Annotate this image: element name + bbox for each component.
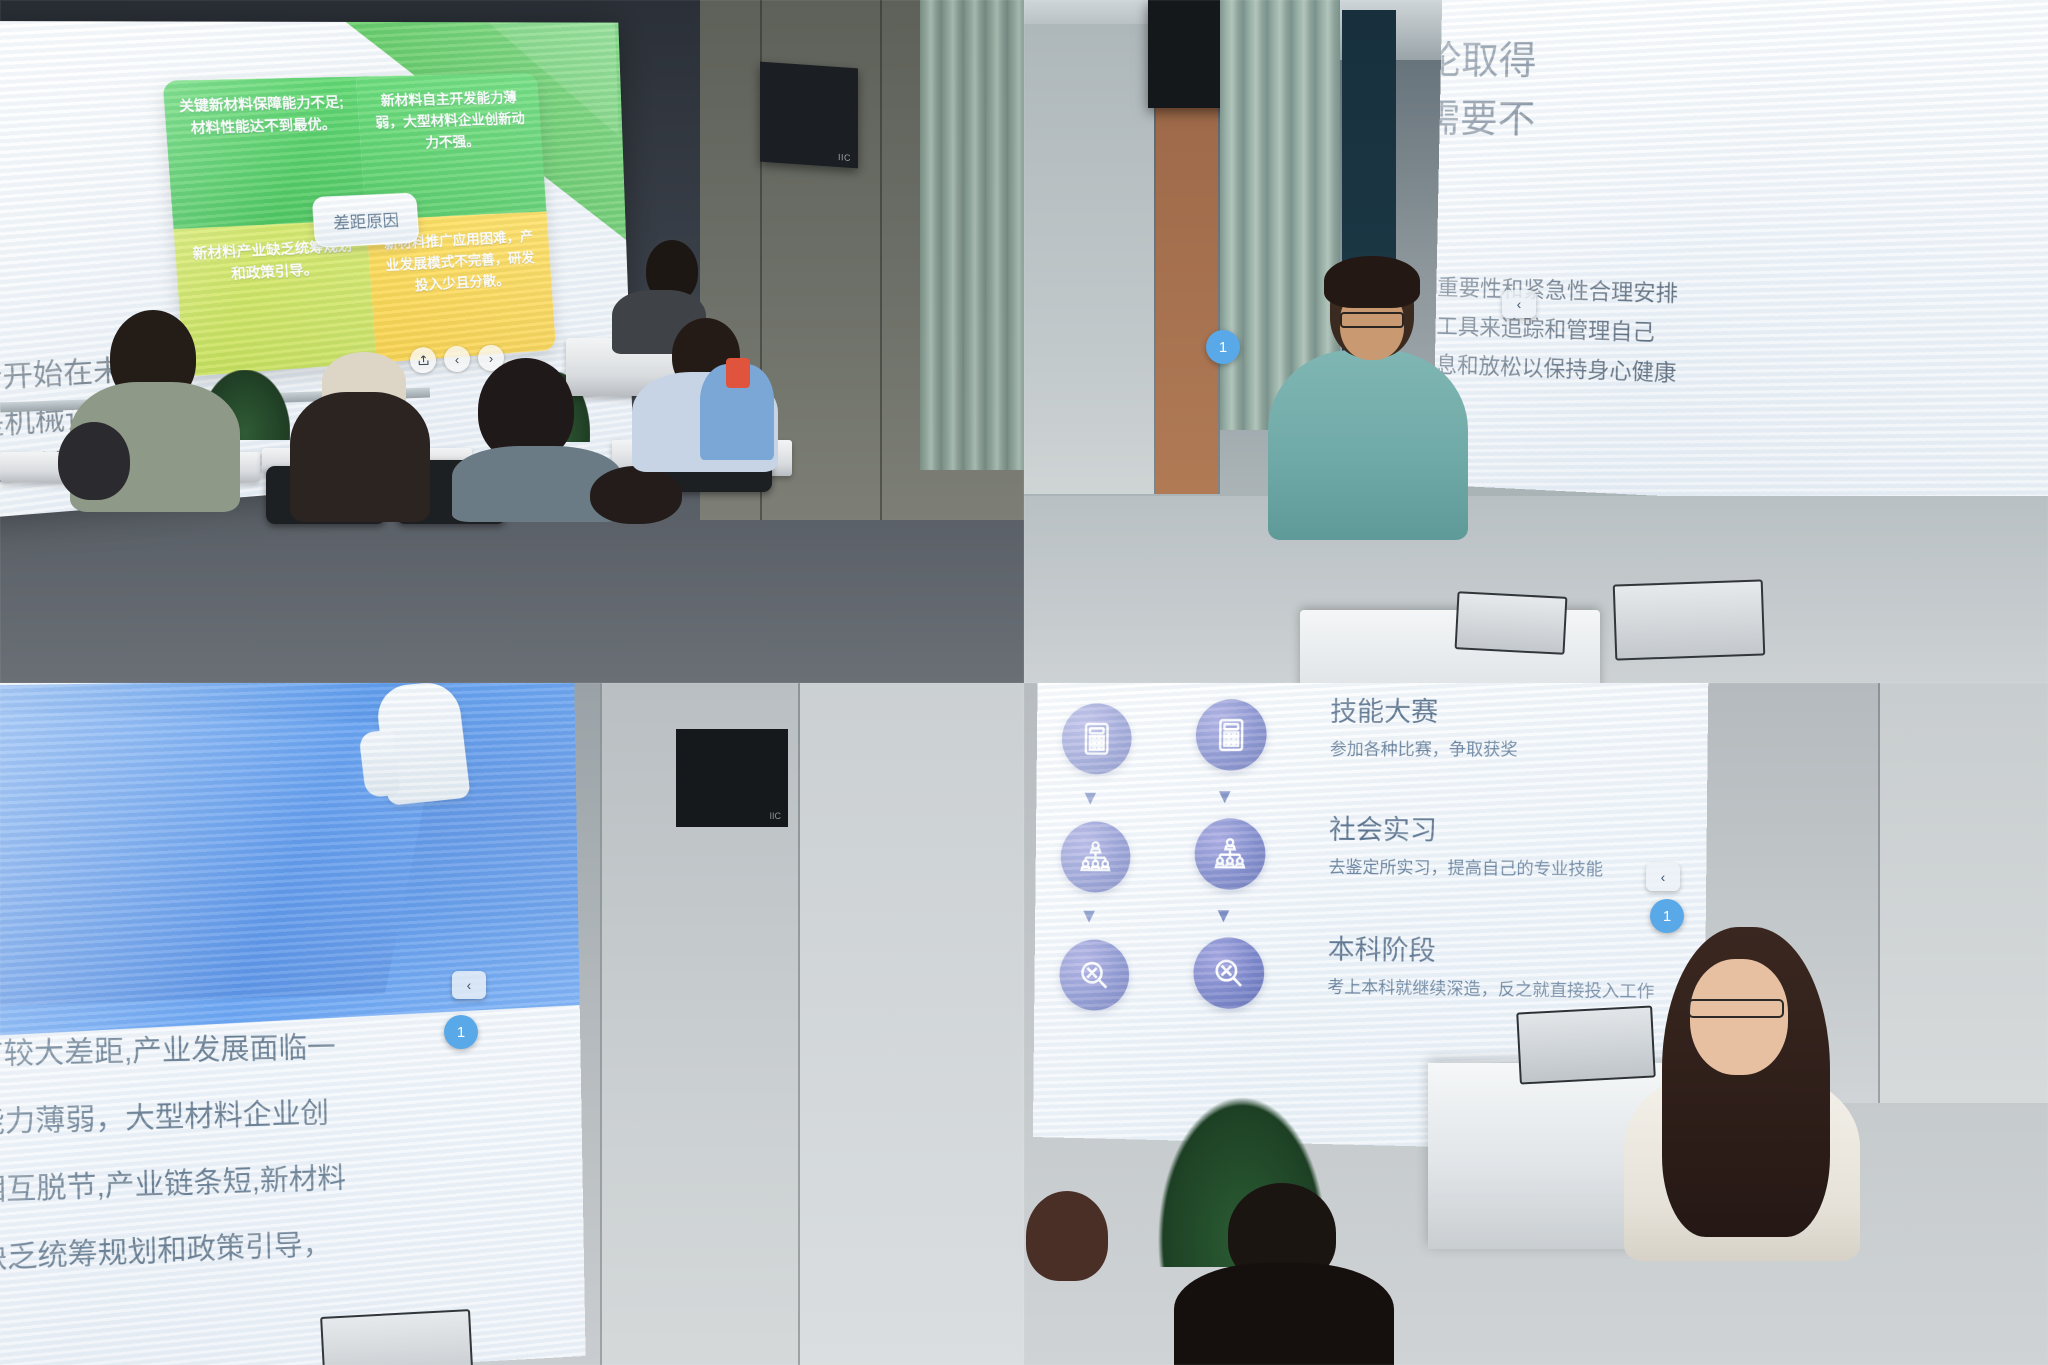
audience-head <box>590 466 682 524</box>
step-heading-1: 技能大赛 <box>1330 697 1518 728</box>
wall-panel <box>1880 683 2048 1103</box>
page-number-badge[interactable]: 1 <box>444 1015 478 1049</box>
presenter-laptop <box>1516 1005 1656 1084</box>
step-heading-2: 社会实习 <box>1329 815 1604 848</box>
chevron-down-icon: ▾ <box>1083 904 1095 928</box>
chevron-down-icon: ▾ <box>1219 785 1231 809</box>
presenter-glasses <box>1688 999 1784 1018</box>
prev-slide-button[interactable]: ‹ <box>1646 863 1680 891</box>
audience-body <box>290 392 430 522</box>
panel-top-right: IIC 论取得 需要不 。 的重要性和紧急性合理安排 等工具来追踪和管理自己 休… <box>1024 0 2048 683</box>
presenter-tablet <box>1455 591 1568 655</box>
prev-slide-button[interactable]: ‹ <box>1502 290 1536 318</box>
prev-slide-button[interactable]: ‹ <box>452 971 486 999</box>
projection-screen-2: 论取得 需要不 。 的重要性和紧急性合理安排 等工具来追踪和管理自己 休息和放松… <box>1432 0 2048 516</box>
wall-panel-left <box>1024 24 1154 494</box>
speaker-brand-label: IIC <box>769 811 781 821</box>
page-number-badge[interactable]: 1 <box>1206 330 1240 364</box>
photo-collage: IIC 设计 主? 生? ? 的分析开始在未 尤其是机械设 突出越来越重要 关键… <box>0 0 2048 1365</box>
speaker-brand-label: IIC <box>838 152 851 163</box>
share-icon[interactable] <box>410 347 437 374</box>
thumbs-up-icon <box>374 683 470 806</box>
panel-bottom-right: ▾ ▾ 技能大赛 参加各种比赛，争取获奖 <box>1024 683 2048 1365</box>
slide-nav-controls-1[interactable]: ‹ › <box>410 344 505 373</box>
presenter-shirt <box>1268 350 1468 540</box>
step-sub-2: 去鉴定所实习，提高自己的专业技能 <box>1328 853 1603 880</box>
step-sub-1: 参加各种比赛，争取获奖 <box>1330 735 1518 760</box>
matrix-center-label: 差距原因 <box>312 193 420 248</box>
step-sub-3: 考上本科就继续深造，反之就直接投入工作 <box>1327 973 1654 1003</box>
slide-heading-line-1: 论取得 <box>1432 29 1537 86</box>
projection-screen-3: 国家有较大差距,产业发展面临一 开发能力薄弱，大型材料企业创 研用相互脱节,产业… <box>0 683 586 1365</box>
presenter-glasses <box>1340 312 1404 328</box>
step-text-3: 本科阶段 考上本科就继续深造，反之就直接投入工作 <box>1327 935 1655 1003</box>
audience-head <box>1026 1191 1108 1281</box>
audience-body <box>1174 1263 1394 1365</box>
page-number-badge[interactable]: 1 <box>1650 899 1684 933</box>
wall-seam <box>798 683 800 1365</box>
ceiling-speaker: IIC <box>760 62 858 169</box>
wall-seam <box>1878 683 1880 1103</box>
presenter-laptop <box>1613 579 1766 660</box>
window-curtain <box>920 0 1024 470</box>
ceiling-speaker: IIC <box>676 729 788 827</box>
wall-seam <box>880 0 882 520</box>
slide-body-line-1: 的重要性和紧急性合理安排 <box>1432 268 1678 308</box>
audience-head <box>58 422 130 500</box>
wall-panel <box>800 683 1024 1365</box>
step-heading-3: 本科阶段 <box>1328 935 1655 970</box>
step-text-2: 社会实习 去鉴定所实习，提高自己的专业技能 <box>1328 815 1603 880</box>
presenter-laptop <box>320 1309 474 1365</box>
chevron-down-icon: ▾ <box>1084 786 1096 810</box>
step-text-1: 技能大赛 参加各种比赛，争取获奖 <box>1330 697 1518 761</box>
panel-top-left: IIC 设计 主? 生? ? 的分析开始在未 尤其是机械设 突出越来越重要 关键… <box>0 0 1024 683</box>
wall-seam <box>600 683 602 1365</box>
gap-cause-matrix: 关键新材料保障能力不足;材料性能达不到最优。 新材料自主开发能力薄弱，大型材料企… <box>162 73 556 377</box>
held-object <box>726 358 750 388</box>
chevron-down-icon: ▾ <box>1217 904 1229 928</box>
presenter-hair <box>1324 256 1420 308</box>
slide-heading-line-2: 需要不 <box>1432 87 1536 144</box>
prev-slide-button[interactable]: ‹ <box>444 346 471 373</box>
panel-bottom-left: IIC 国家有较大差距,产业发展面临一 开发能力薄弱，大型材料企业创 研用相互脱… <box>0 683 1024 1365</box>
